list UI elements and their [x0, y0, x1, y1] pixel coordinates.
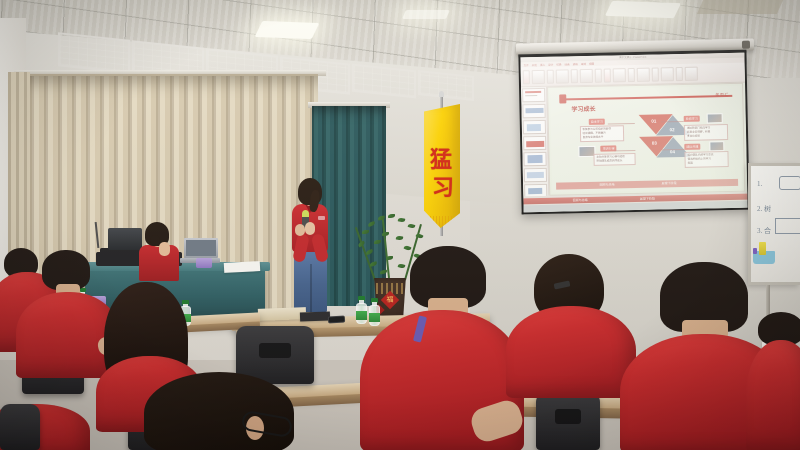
- slide-thumbnail[interactable]: [523, 120, 546, 134]
- chair-backrest-slot: [259, 343, 290, 358]
- ribbon-button[interactable]: [652, 67, 659, 81]
- slide-note-1: 积极参与公司组织的各项 培训课程，不断提升 自身专业技能水平: [579, 125, 623, 142]
- ribbon-button[interactable]: [571, 69, 578, 83]
- triangle-diagram: 01 02 03 04: [634, 113, 715, 177]
- current-slide[interactable]: 年周汇 学习成长 01 02 03 04 自主学习: [550, 86, 742, 193]
- ceiling-light-panel: [402, 10, 450, 19]
- presenter-hair: [298, 178, 322, 205]
- ribbon-button[interactable]: [523, 70, 530, 84]
- ribbon-button[interactable]: [604, 68, 611, 82]
- slide-photo-right-2: [709, 141, 724, 151]
- ceiling-light-panel: [605, 1, 681, 18]
- plant-leaf: [396, 235, 404, 240]
- ribbon-button[interactable]: [556, 69, 569, 83]
- slide-note-4: 组织团队内部学习交流 营造积极向上的学习 氛围: [684, 151, 728, 168]
- ribbon-button[interactable]: [661, 67, 674, 81]
- slide-chip-1: 自主学习: [589, 118, 605, 124]
- ribbon-button[interactable]: [628, 67, 635, 81]
- window-pane: [418, 70, 474, 101]
- clipboard-on-desk[interactable]: [300, 311, 330, 321]
- ribbon-tab[interactable]: 放映: [573, 62, 578, 66]
- ribbon-button[interactable]: [676, 66, 683, 80]
- slide-note-3: 通过跨部门轮岗学习 拓宽业务视野，积累 多岗位经验: [684, 124, 728, 141]
- plant-leaf: [368, 221, 376, 227]
- team-banner-flag: 猛 习: [424, 104, 460, 228]
- ribbon-button[interactable]: [580, 68, 593, 82]
- whiteboard-line-2: 2. 树: [757, 204, 771, 214]
- ribbon-tab[interactable]: 开始: [532, 63, 537, 67]
- classroom-photo-scene: 演示文稿1 - PowerPoint 文件 开始 插入 设计 切换 动画 放映 …: [0, 0, 800, 450]
- triangle-number-02: 02: [669, 127, 674, 132]
- bottle-neck: [359, 300, 364, 303]
- slide-chip-4: 团队共建: [684, 143, 700, 149]
- ribbon-tab[interactable]: 动画: [564, 62, 569, 66]
- slide-footer-label-2: 展望下阶段: [662, 181, 677, 185]
- slide-accent-rule: [565, 95, 732, 100]
- slide-footer-bar: 回顾与总结 展望下阶段: [556, 179, 739, 190]
- screen-roller-endcap: [742, 41, 750, 49]
- slide-editing-stage[interactable]: 年周汇 学习成长 01 02 03 04 自主学习: [547, 83, 745, 196]
- ribbon-tab[interactable]: 审阅: [581, 61, 586, 65]
- ribbon-tab[interactable]: 文件: [524, 63, 529, 67]
- plant-leaf: [362, 230, 369, 234]
- tissue-pack[interactable]: [196, 258, 212, 268]
- office-chair[interactable]: [536, 392, 600, 450]
- slide-thumbnail[interactable]: [523, 136, 546, 150]
- plant-leaf: [398, 217, 406, 222]
- ribbon-button[interactable]: [685, 66, 698, 80]
- polo-logo: [318, 216, 325, 220]
- audience-member: [138, 372, 316, 450]
- ribbon-tab[interactable]: 插入: [540, 62, 545, 66]
- ribbon-tab[interactable]: 切换: [556, 62, 561, 66]
- ceiling-vent: [697, 0, 783, 14]
- yellow-marker-icon[interactable]: [759, 242, 766, 255]
- whiteboard-line-1: 1.: [757, 180, 762, 188]
- chair-backrest-slot: [555, 409, 581, 424]
- presenter-right-hand: [305, 222, 315, 235]
- plant-leaf: [408, 223, 416, 229]
- status-label-1: 回顾与总结: [573, 197, 588, 201]
- plant-leaf: [382, 232, 389, 236]
- audience-member: [752, 312, 800, 450]
- slide-chip-3: 轮岗学习: [684, 115, 700, 121]
- slide-thumbnail[interactable]: [523, 152, 546, 166]
- slide-thumbnail[interactable]: [522, 104, 545, 118]
- bottle-label: [356, 311, 367, 321]
- presenter-left-hand: [295, 224, 305, 236]
- projection-screen[interactable]: 演示文稿1 - PowerPoint 文件 开始 插入 设计 切换 动画 放映 …: [518, 50, 749, 215]
- audience-red-shirt: [746, 340, 800, 450]
- office-chair[interactable]: [0, 404, 40, 450]
- powerpoint-window[interactable]: 演示文稿1 - PowerPoint 文件 开始 插入 设计 切换 动画 放映 …: [520, 53, 747, 213]
- plant-leaf: [388, 214, 395, 218]
- ribbon-tab[interactable]: 视图: [589, 61, 594, 65]
- slide-leader-line: [614, 150, 635, 151]
- plant-leaf: [378, 216, 385, 221]
- whiteboard-sketch-box: [779, 176, 800, 190]
- ribbon-button[interactable]: [532, 69, 545, 83]
- whiteboard-line-3: 3. 合: [757, 226, 771, 236]
- slide-title: 学习成长: [571, 104, 595, 114]
- smartphone-on-desk[interactable]: [328, 316, 345, 324]
- powerpoint-title-text: 演示文稿1 - PowerPoint: [619, 55, 646, 60]
- slide-thumbnail-panel[interactable]: [521, 87, 549, 197]
- purple-marker-icon[interactable]: [753, 248, 757, 254]
- ribbon-button[interactable]: [595, 68, 602, 82]
- ribbon-button[interactable]: [547, 69, 554, 83]
- status-label-2: 展望下阶段: [640, 196, 655, 200]
- flag-character-2: 习: [432, 170, 454, 202]
- slide-photo-right: [706, 113, 722, 123]
- water-bottle[interactable]: [356, 296, 367, 324]
- window-pane: [352, 64, 416, 99]
- plant-leaf: [374, 240, 381, 244]
- ribbon-tab[interactable]: 设计: [548, 62, 553, 66]
- ribbon-button[interactable]: [637, 67, 650, 81]
- window-pane: [58, 32, 130, 74]
- powerpoint-status-bar[interactable]: 回顾与总结 展望下阶段: [523, 192, 747, 213]
- whiteboard-sketch-box: [775, 218, 800, 234]
- slide-thumbnail[interactable]: [524, 168, 547, 182]
- slide-footer-label-1: 回顾与总结: [600, 182, 615, 186]
- audience-head: [144, 372, 294, 450]
- laptop-screen: [186, 240, 216, 256]
- paper-sheet[interactable]: [224, 261, 260, 273]
- slide-note-2: 主动分享学习心得与经验 带动团队成员共同成长: [593, 153, 635, 166]
- slide-corner-tag: 年周汇: [715, 92, 729, 98]
- slide-thumbnail[interactable]: [522, 88, 545, 102]
- operator-hand: [159, 242, 170, 256]
- ribbon-button[interactable]: [613, 68, 626, 82]
